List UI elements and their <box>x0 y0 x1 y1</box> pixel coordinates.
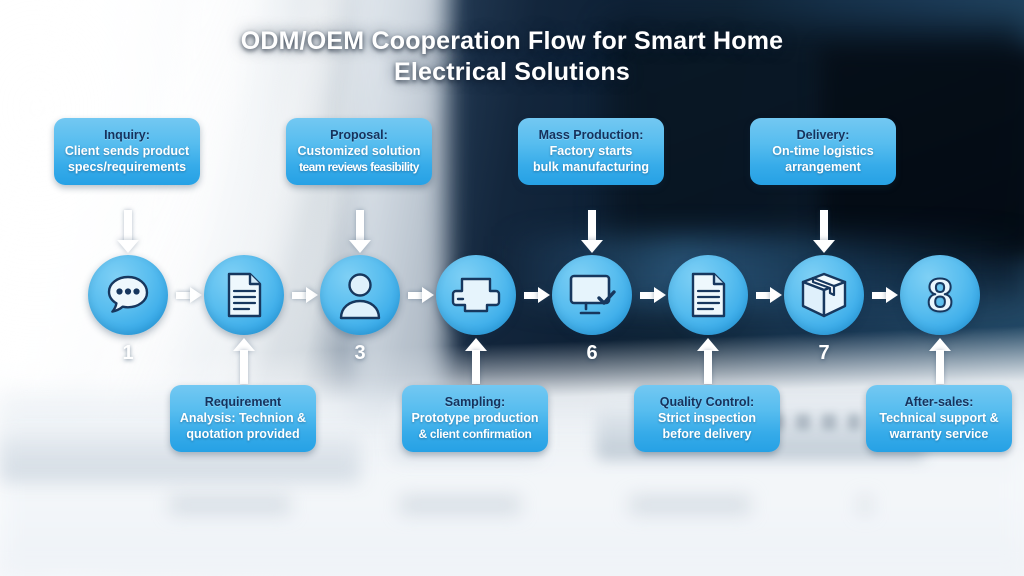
step-circle-1[interactable] <box>88 255 168 335</box>
page-title: ODM/OEM Cooperation Flow for Smart Home … <box>0 26 1024 88</box>
printer-icon <box>450 273 502 317</box>
callout-body-line-1: Customized solution <box>291 143 427 159</box>
infographic-canvas: ODM/OEM Cooperation Flow for Smart Home … <box>0 0 1024 576</box>
callout-proposal[interactable]: Proposal: Customized solution team revie… <box>286 118 432 185</box>
step-number-1: 1 <box>88 342 168 365</box>
connector-arrow-up-step-2 <box>233 338 255 386</box>
callout-body-line-2: specs/requirements <box>59 159 195 175</box>
callout-body-line-2: bulk manufacturing <box>523 159 659 175</box>
step-arrow-6-to-7 <box>756 287 782 303</box>
person-icon <box>336 270 384 320</box>
page-title-line-1: ODM/OEM Cooperation Flow for Smart Home <box>0 26 1024 57</box>
callout-mass-production[interactable]: Mass Production: Factory starts bulk man… <box>518 118 664 185</box>
callout-body-line-1: On-time logistics <box>755 143 891 159</box>
chat-bubble-icon <box>102 269 154 321</box>
step-circle-6[interactable] <box>668 255 748 335</box>
connector-arrow-up-step-8 <box>929 338 951 386</box>
callout-body-line-1: Technical support & <box>871 410 1007 426</box>
connector-arrow-up-step-4 <box>465 338 487 386</box>
callout-body-line-1: Strict inspection <box>639 410 775 426</box>
monitor-check-icon <box>566 271 618 319</box>
step-arrow-4-to-5 <box>524 287 550 303</box>
callout-heading: After-sales: <box>871 394 1007 410</box>
callout-heading: Sampling: <box>407 394 543 410</box>
callout-body-line-2: before delivery <box>639 426 775 442</box>
step-number-7: 7 <box>784 342 864 365</box>
connector-arrow-down-step-1 <box>117 210 139 255</box>
step-circle-7[interactable] <box>784 255 864 335</box>
connector-arrow-up-step-6 <box>697 338 719 386</box>
callout-requirement-analysis[interactable]: Requirement Analysis: Technion & quotati… <box>170 385 316 452</box>
page-title-line-2: Electrical Solutions <box>0 57 1024 88</box>
callout-heading: Inquiry: <box>59 127 195 143</box>
callout-heading: Delivery: <box>755 127 891 143</box>
step-number-6: 6 <box>552 342 632 365</box>
callout-heading: Requirement <box>175 394 311 410</box>
callout-heading: Proposal: <box>291 127 427 143</box>
connector-arrow-down-step-5 <box>581 210 603 255</box>
step-arrow-3-to-4 <box>408 287 434 303</box>
callout-body-line-1: Client sends product <box>59 143 195 159</box>
callout-body-line-1: Prototype production <box>407 410 543 426</box>
connector-arrow-down-step-7 <box>813 210 835 255</box>
callout-quality-control[interactable]: Quality Control: Strict inspection befor… <box>634 385 780 452</box>
document-icon <box>221 269 267 321</box>
background-desk-shadows <box>170 496 870 514</box>
number-eight-icon: 8 <box>927 272 953 318</box>
callout-body-line-2: quotation provided <box>175 426 311 442</box>
callout-body-line-2: arrangement <box>755 159 891 175</box>
callout-inquiry[interactable]: Inquiry: Client sends product specs/requ… <box>54 118 200 185</box>
callout-body-line-1: Analysis: Technion & <box>175 410 311 426</box>
step-circle-4[interactable] <box>436 255 516 335</box>
step-circle-2[interactable] <box>204 255 284 335</box>
step-circle-5[interactable] <box>552 255 632 335</box>
callout-body-line-2: & client confirmation <box>407 426 543 442</box>
callout-heading: Quality Control: <box>639 394 775 410</box>
step-circle-8[interactable]: 8 <box>900 255 980 335</box>
step-arrow-7-to-8 <box>872 287 898 303</box>
document-lines-icon <box>685 269 731 321</box>
callout-body-line-1: Factory starts <box>523 143 659 159</box>
step-circle-3[interactable] <box>320 255 400 335</box>
callout-delivery[interactable]: Delivery: On-time logistics arrangement <box>750 118 896 185</box>
callout-heading: Mass Production: <box>523 127 659 143</box>
callout-sampling[interactable]: Sampling: Prototype production & client … <box>402 385 548 452</box>
callout-body-line-2: warranty service <box>871 426 1007 442</box>
step-arrow-2-to-3 <box>292 287 318 303</box>
step-number-3: 3 <box>320 342 400 365</box>
callout-body-line-2: team reviews feasibility <box>291 159 427 175</box>
step-arrow-5-to-6 <box>640 287 666 303</box>
connector-arrow-down-step-3 <box>349 210 371 255</box>
callout-after-sales[interactable]: After-sales: Technical support & warrant… <box>866 385 1012 452</box>
step-arrow-1-to-2 <box>176 287 202 303</box>
package-box-icon <box>798 270 850 320</box>
